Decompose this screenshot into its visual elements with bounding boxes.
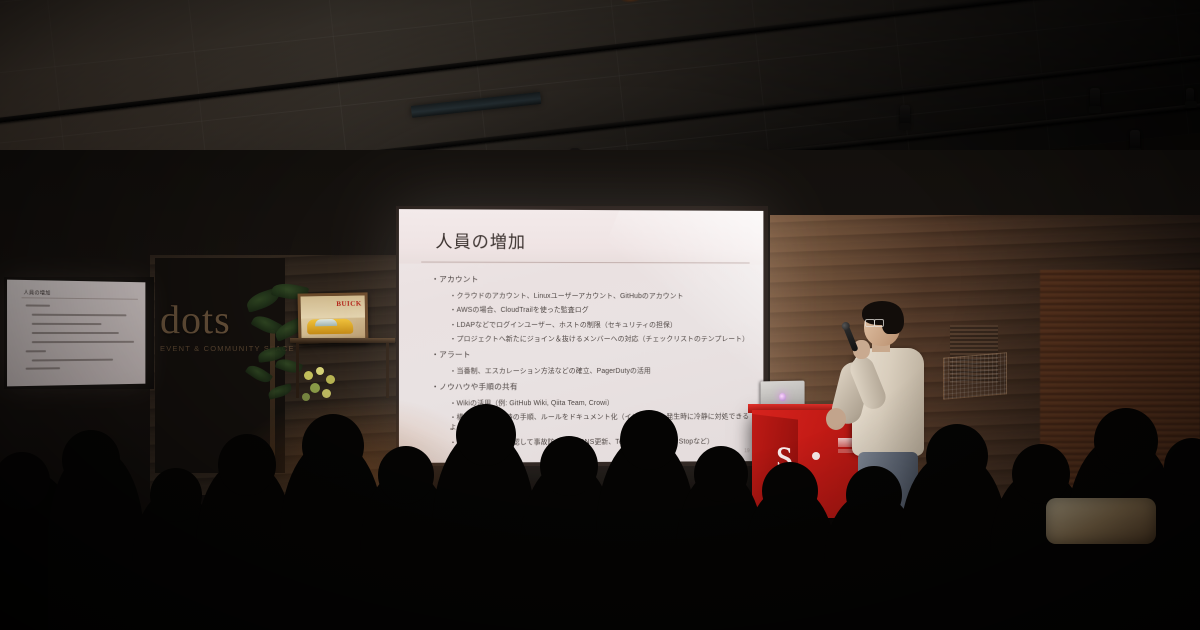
- venue-sign-subtitle: EVENT & COMMUNITY SPACE: [160, 344, 325, 353]
- audience-head: [62, 430, 120, 490]
- wire-shelf: [943, 352, 1007, 400]
- flower-arrangement: [300, 365, 346, 410]
- apple-logo-icon: [779, 393, 786, 401]
- bullet-level2: ・LDAPなどでログインユーザー、ホストの制限（セキュリティの担保）: [450, 319, 754, 329]
- audience-head: [378, 446, 434, 504]
- bullet-level2: ・クラウドのアカウント、Linuxユーザーアカウント、GitHubのアカウント: [450, 289, 754, 299]
- audience-head: [218, 434, 276, 496]
- sofa-cushion: [1046, 498, 1156, 544]
- audience-head: [456, 404, 516, 466]
- audience-head: [540, 436, 598, 496]
- audience-head: [150, 468, 202, 522]
- shelf: [290, 338, 395, 343]
- buick-poster: BUICK: [298, 292, 369, 343]
- glasses-icon: [865, 319, 884, 326]
- speaker-hand-left: [826, 408, 846, 430]
- bullet-level1: ・ノウハウや手順の共有: [431, 381, 753, 393]
- spotlight: [1130, 130, 1140, 152]
- slide-title: 人員の増加: [435, 227, 526, 252]
- podium-logo-dot: [812, 452, 820, 460]
- microphone: [843, 326, 858, 352]
- slide-page-number: 19: [744, 448, 749, 454]
- spotlight: [900, 105, 910, 127]
- confidence-monitor-title: 人員の増加: [24, 289, 51, 297]
- photo-scene: dots EVENT & COMMUNITY SPACE BUICK 人員の増加: [0, 0, 1200, 630]
- bullet-level2: ・プロジェクトへ新たにジョイン＆抜けるメンバーへの対応（チェックリストのテンプレ…: [450, 333, 754, 343]
- poster-brand: BUICK: [336, 299, 362, 307]
- bullet-level2: ・当番制、エスカレーション方法などの確立、PagerDutyの活用: [450, 365, 754, 375]
- audience-head: [694, 446, 748, 502]
- projection-screen: 人員の増加 ・アカウント ・クラウドのアカウント、Linuxユーザーアカウント、…: [399, 209, 763, 463]
- confidence-monitor: 人員の増加: [7, 280, 145, 387]
- bullet-level1: ・アカウント: [431, 274, 753, 286]
- audience-head: [1094, 408, 1158, 474]
- bullet-level2: ・AWSの場合、CloudTrailを使った監査ログ: [450, 304, 754, 314]
- spotlight: [1186, 88, 1194, 105]
- audience-head: [1012, 444, 1070, 504]
- speaker-hair: [882, 304, 904, 334]
- audience-head: [620, 410, 678, 470]
- bullet-level1: ・アラート: [431, 349, 753, 360]
- audience-head: [926, 424, 988, 488]
- audience-head: [762, 462, 818, 520]
- audience-head: [846, 466, 902, 524]
- spotlight: [1090, 88, 1100, 110]
- audience-head: [302, 414, 364, 478]
